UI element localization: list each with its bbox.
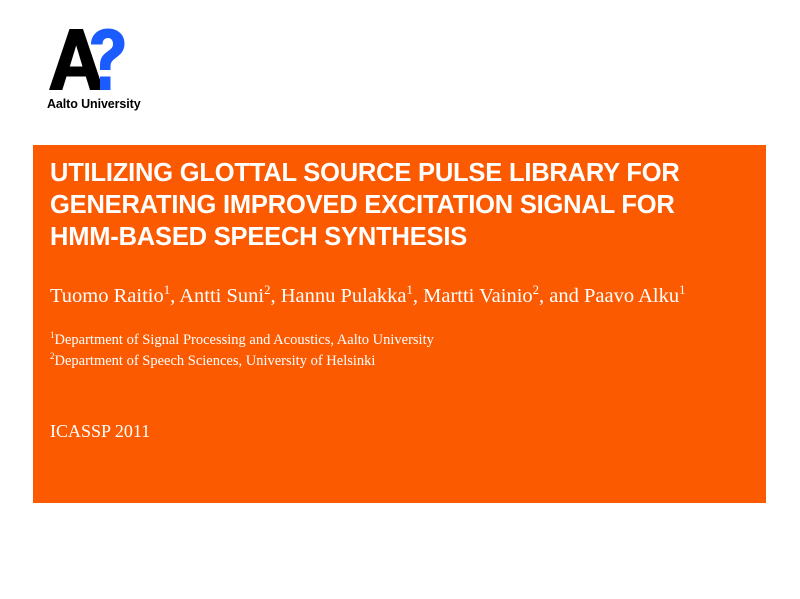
aalto-university-logo: Aalto University	[47, 28, 177, 111]
affiliation-item-1: 1Department of Signal Processing and Aco…	[50, 330, 756, 351]
affiliation-item-2: 2Department of Speech Sciences, Universi…	[50, 351, 756, 372]
author-list: Tuomo Raitio1, Antti Suni2, Hannu Pulakk…	[50, 284, 756, 308]
title-panel: Utilizing glottal source pulse library f…	[33, 145, 766, 503]
page-title: Utilizing glottal source pulse library f…	[50, 157, 750, 253]
conference-label: ICASSP 2011	[50, 420, 756, 442]
aalto-a-question-mark-icon	[47, 28, 125, 91]
title-panel-content: Utilizing glottal source pulse library f…	[50, 157, 756, 442]
aalto-university-wordmark: Aalto University	[47, 97, 177, 111]
affiliation-list: 1Department of Signal Processing and Aco…	[50, 330, 756, 372]
